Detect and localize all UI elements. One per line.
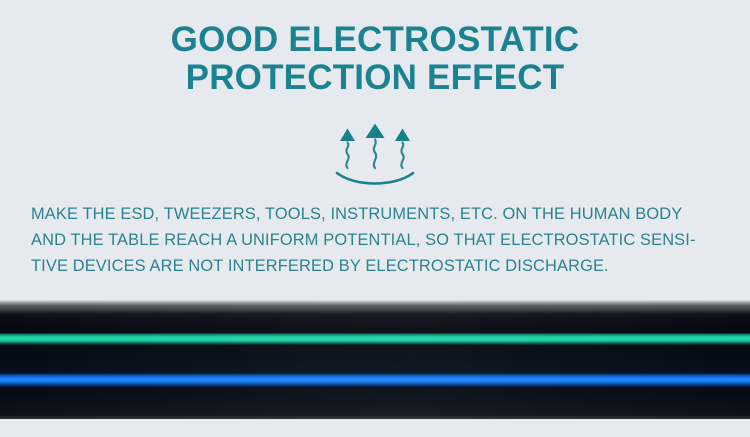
mat-dark-upper: [0, 314, 750, 335]
page-title-line-2: PROTECTION EFFECT: [0, 59, 750, 97]
page-title-line-1: GOOD ELECTROSTATIC: [0, 21, 750, 59]
mat-gray-band: [0, 300, 750, 314]
body-text-line-2: AND THE TABLE REACH A UNIFORM POTENTIAL,…: [31, 227, 721, 253]
mat-dark-middle: [0, 345, 750, 375]
promo-banner: GOOD ELECTROSTATIC PROTECTION EFFECT MAK…: [0, 0, 750, 437]
body-text-line-3: TIVE DEVICES ARE NOT INTERFERED BY ELECT…: [31, 253, 721, 279]
body-text: MAKE THE ESD, TWEEZERS, TOOLS, INSTRUMEN…: [31, 201, 721, 279]
page-title: GOOD ELECTROSTATIC PROTECTION EFFECT: [0, 21, 750, 97]
esd-dissipation-icon: [330, 118, 420, 190]
mat-blue-stripe: [0, 373, 750, 387]
esd-mat-edge-photo: [0, 300, 750, 419]
body-text-line-1: MAKE THE ESD, TWEEZERS, TOOLS, INSTRUMEN…: [31, 201, 721, 227]
mat-dark-lower: [0, 387, 750, 419]
mat-green-stripe: [0, 333, 750, 345]
mat-bottom-edge: [0, 416, 750, 419]
